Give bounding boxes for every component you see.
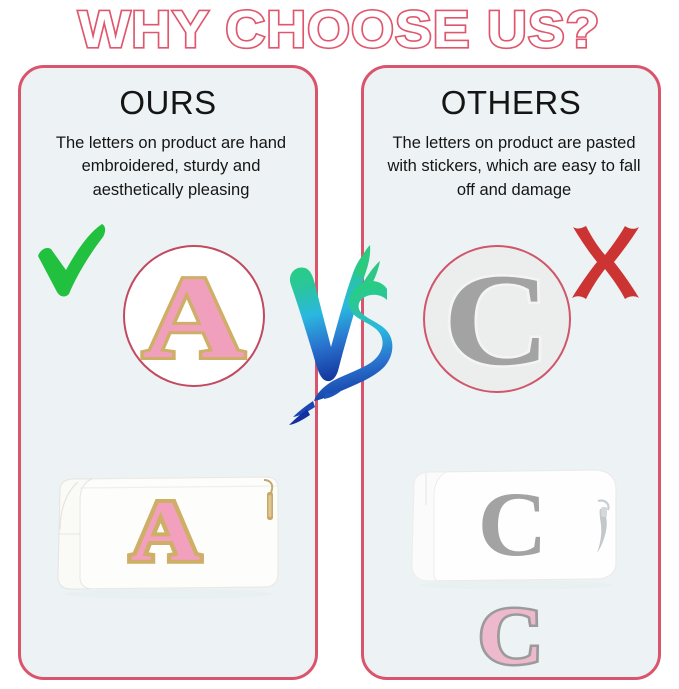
product-bag-ours: A xyxy=(40,452,292,612)
product-bag-others: C xyxy=(398,455,638,600)
chenille-letter-a: A xyxy=(143,259,245,377)
patch-letter-a: A xyxy=(131,484,201,579)
panel-description-ours: The letters on product are hand embroide… xyxy=(35,132,307,202)
svg-text:A: A xyxy=(131,484,201,579)
sticker-letter-c: C xyxy=(478,474,548,575)
vs-divider-icon xyxy=(283,243,399,433)
panel-description-others: The letters on product are pasted with s… xyxy=(378,132,650,202)
letter-closeup-ours: A xyxy=(123,245,265,387)
check-icon xyxy=(34,222,114,302)
letter-closeup-others: C xyxy=(423,245,571,393)
panel-heading-others: OTHERS xyxy=(364,84,658,122)
fallen-patch-letter: C xyxy=(478,595,543,677)
fallen-patch-letter-c: C xyxy=(468,592,554,680)
svg-text:C: C xyxy=(478,474,548,575)
page-title: WHY CHOOSE US? xyxy=(0,2,679,58)
cross-icon xyxy=(566,224,644,302)
sticker-letter-c: C xyxy=(444,254,551,386)
page-title-text: WHY CHOOSE US? xyxy=(78,4,600,56)
panel-heading-ours: OURS xyxy=(21,84,315,122)
